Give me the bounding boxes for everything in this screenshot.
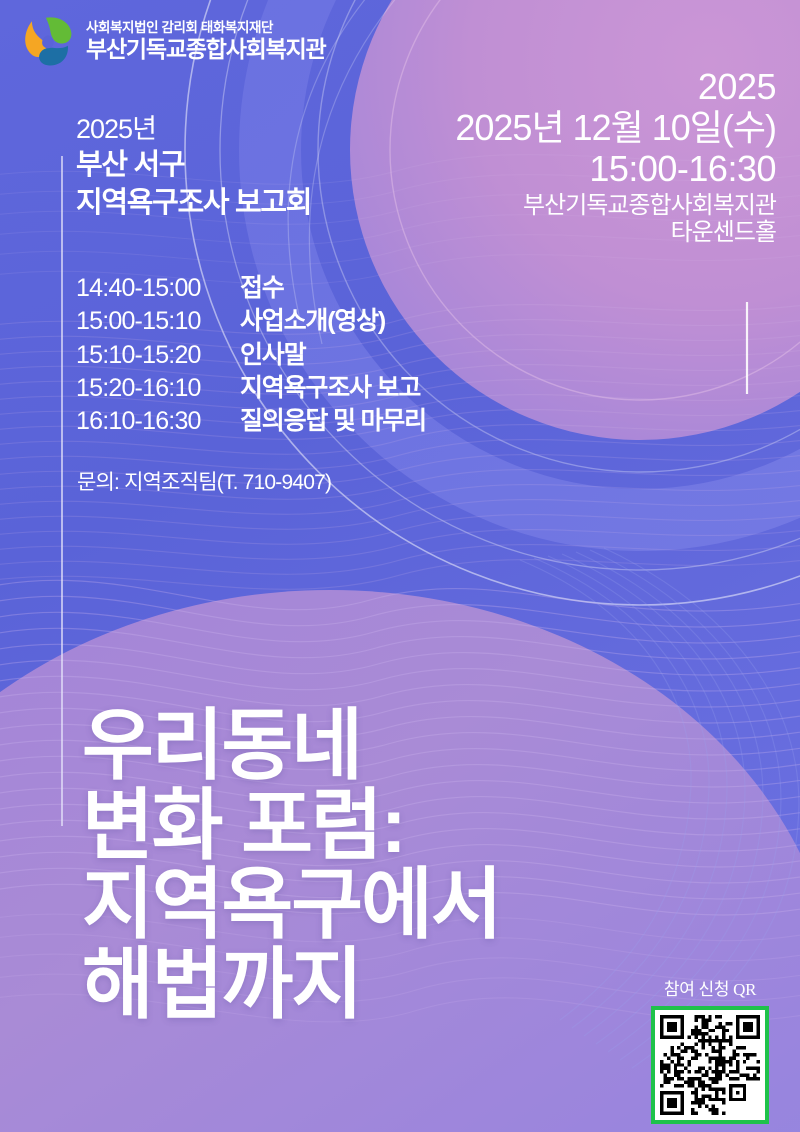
qr-label: 참여 신청 QR bbox=[646, 975, 774, 1000]
event-date: 2025년 12월 10일(수) bbox=[455, 107, 776, 148]
schedule-row: 15:00-15:10 사업소개(영상) bbox=[76, 305, 426, 338]
headline-line-1: 우리동네 bbox=[82, 706, 501, 786]
subtitle-line1: 부산 서구 bbox=[76, 147, 311, 185]
event-year: 2025 bbox=[455, 66, 776, 107]
headline-line-2: 변화 포럼: bbox=[82, 786, 501, 866]
schedule-time: 14:40-15:00 bbox=[76, 272, 240, 305]
event-hall: 타운센드홀 bbox=[455, 219, 776, 246]
brand-header: 사회복지법인 감리회 태화복지재단 부산기독교종합사회복지관 bbox=[18, 12, 326, 70]
headline-line-3: 지역욕구에서 bbox=[82, 865, 501, 945]
schedule-list: 14:40-15:00 접수 15:00-15:10 사업소개(영상) 15:1… bbox=[76, 272, 426, 438]
qr-code-icon[interactable] bbox=[651, 1006, 769, 1124]
event-poster: 사회복지법인 감리회 태화복지재단 부산기독교종합사회복지관 2025 2025… bbox=[0, 0, 800, 1132]
schedule-label: 접수 bbox=[240, 272, 284, 305]
schedule-row: 14:40-15:00 접수 bbox=[76, 272, 426, 305]
schedule-label: 사업소개(영상) bbox=[240, 305, 385, 338]
schedule-label: 질의응답 및 마무리 bbox=[240, 405, 426, 438]
schedule-time: 16:10-16:30 bbox=[76, 405, 240, 438]
schedule-label: 인사말 bbox=[240, 339, 305, 372]
contact-info: 문의: 지역조직팀(T. 710-9407) bbox=[77, 466, 331, 496]
schedule-row: 15:10-15:20 인사말 bbox=[76, 339, 426, 372]
foundation-name: 사회복지법인 감리회 태화복지재단 bbox=[86, 21, 326, 35]
schedule-row: 16:10-16:30 질의응답 및 마무리 bbox=[76, 405, 426, 438]
schedule-time: 15:10-15:20 bbox=[76, 339, 240, 372]
schedule-label: 지역욕구조사 보고 bbox=[240, 372, 420, 405]
schedule-row: 15:20-16:10 지역욕구조사 보고 bbox=[76, 372, 426, 405]
event-time: 15:00-16:30 bbox=[455, 148, 776, 189]
brand-text: 사회복지법인 감리회 태화복지재단 부산기독교종합사회복지관 bbox=[86, 21, 326, 61]
subtitle-block: 2025년 부산 서구 지역욕구조사 보고회 bbox=[76, 112, 311, 222]
main-headline: 우리동네 변화 포럼: 지역욕구에서 해법까지 bbox=[82, 706, 501, 1024]
organization-name: 부산기독교종합사회복지관 bbox=[86, 37, 326, 61]
schedule-time: 15:00-15:10 bbox=[76, 305, 240, 338]
qr-registration-block[interactable]: 참여 신청 QR bbox=[646, 975, 774, 1124]
event-venue: 부산기독교종합사회복지관 bbox=[455, 192, 776, 219]
subtitle-year: 2025년 bbox=[76, 112, 311, 147]
headline-line-4: 해법까지 bbox=[82, 945, 501, 1025]
pinwheel-logo-icon bbox=[18, 12, 76, 70]
schedule-time: 15:20-16:10 bbox=[76, 372, 240, 405]
event-info-block: 2025 2025년 12월 10일(수) 15:00-16:30 부산기독교종… bbox=[455, 66, 776, 247]
subtitle-line2: 지역욕구조사 보고회 bbox=[76, 185, 311, 223]
